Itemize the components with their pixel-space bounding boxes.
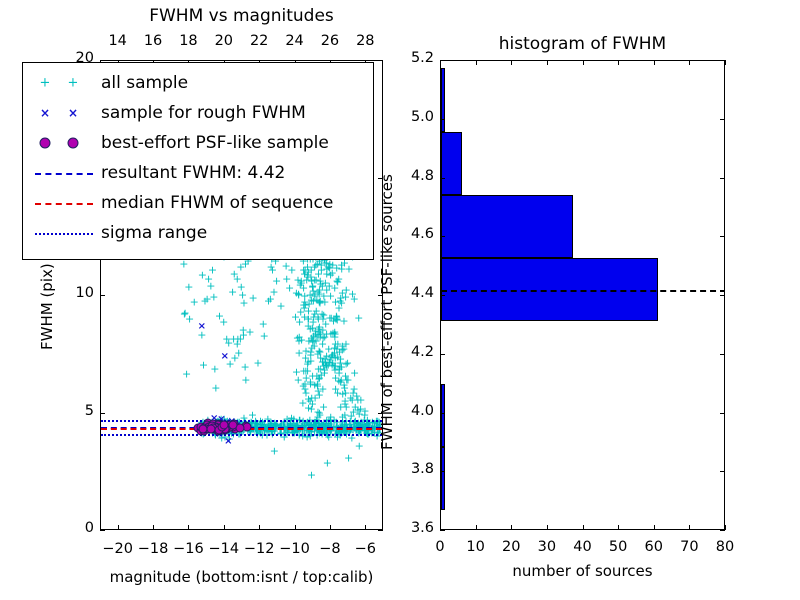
scatter-point-all-sample: +: [287, 264, 296, 275]
scatter-point-all-sample: +: [292, 366, 301, 377]
dashdot-line: [35, 233, 93, 235]
axis-tick: [725, 60, 726, 65]
scatter-point-all-sample: +: [295, 332, 304, 343]
axis-tick: [440, 413, 445, 414]
axis-tick: [153, 525, 154, 530]
axis-tick: [440, 60, 445, 61]
legend-item[interactable]: resultant FWHM: 4.42: [27, 158, 365, 188]
left-x-axis-label: magnitude (bottom:isnt / top:calib): [100, 568, 383, 586]
x-marker: ×: [40, 107, 50, 119]
scatter-point-all-sample: +: [323, 457, 332, 468]
legend-label: sigma range: [101, 223, 207, 243]
left-y-axis-label: FWHM (pix): [38, 263, 56, 350]
axis-tick: [440, 354, 445, 355]
legend-marker: ××: [27, 98, 101, 128]
scatter-point-psf-like: [198, 425, 207, 434]
scatter-point-all-sample: +: [336, 401, 345, 412]
scatter-point-all-sample: +: [190, 296, 199, 307]
scatter-point-all-sample: +: [307, 469, 316, 480]
left-xtick-top-label: 28: [343, 33, 387, 49]
scatter-point-rough-fwhm: ×: [224, 437, 232, 447]
sigma-range-lower-line: [101, 434, 382, 436]
scatter-point-rough-fwhm: ×: [221, 352, 229, 362]
right-ytick-label: 3.6: [388, 520, 434, 536]
histogram-axes[interactable]: [440, 60, 725, 530]
legend-item[interactable]: ++all sample: [27, 68, 365, 98]
left-xtick-label: −6: [343, 541, 387, 557]
axis-tick: [654, 525, 655, 530]
legend-box[interactable]: ++all sample××sample for rough FWHMbest-…: [22, 62, 374, 260]
right-ytick-label: 4.2: [388, 344, 434, 360]
scatter-point-all-sample: +: [317, 369, 326, 380]
histogram-bar: [441, 384, 445, 447]
scatter-point-all-sample: +: [270, 446, 279, 457]
legend-item[interactable]: ××sample for rough FWHM: [27, 98, 365, 128]
circle-marker: [68, 138, 79, 149]
axis-tick: [100, 413, 105, 414]
axis-tick: [689, 525, 690, 530]
axis-tick: [618, 525, 619, 530]
right-ytick-label: 4.8: [388, 168, 434, 184]
axis-tick: [378, 178, 383, 179]
scatter-point-all-sample: +: [249, 292, 258, 303]
legend-label: best-effort PSF-like sample: [101, 133, 329, 153]
scatter-point-all-sample: +: [272, 275, 281, 286]
right-xtick-label: 80: [703, 539, 747, 555]
scatter-point-all-sample: +: [355, 409, 364, 420]
scatter-point-all-sample: +: [240, 361, 249, 372]
axis-tick: [224, 525, 225, 530]
scatter-point-all-sample: +: [241, 374, 250, 385]
scatter-point-all-sample: +: [315, 407, 324, 418]
axis-tick: [188, 525, 189, 530]
circle-marker: [40, 138, 51, 149]
legend-label: resultant FWHM: 4.42: [101, 163, 285, 183]
right-ytick-label: 5.2: [388, 50, 434, 66]
scatter-point-all-sample: +: [304, 356, 313, 367]
scatter-point-all-sample: +: [182, 369, 191, 380]
axis-tick: [365, 525, 366, 530]
axis-tick: [547, 525, 548, 530]
scatter-point-all-sample: +: [234, 347, 243, 358]
scatter-point-all-sample: +: [307, 343, 316, 354]
axis-tick: [720, 295, 725, 296]
legend-marker: [27, 128, 101, 158]
legend-label: all sample: [101, 73, 188, 93]
axis-tick: [440, 236, 445, 237]
right-ytick-label: 5.0: [388, 109, 434, 125]
scatter-point-psf-like: [228, 421, 237, 430]
scatter-point-all-sample: +: [302, 373, 311, 384]
axis-tick: [440, 178, 445, 179]
scatter-point-all-sample: +: [350, 294, 359, 305]
axis-tick: [440, 295, 445, 296]
right-ytick-label: 3.8: [388, 461, 434, 477]
right-x-axis-label: number of sources: [440, 562, 725, 580]
legend-item[interactable]: median FHWM of sequence: [27, 188, 365, 218]
scatter-point-all-sample: +: [200, 296, 209, 307]
left-panel-title: FWHM vs magnitudes: [100, 6, 383, 26]
x-marker: ×: [68, 107, 78, 119]
scatter-point-all-sample: +: [322, 284, 331, 295]
legend-item[interactable]: best-effort PSF-like sample: [27, 128, 365, 158]
axis-tick: [440, 471, 445, 472]
scatter-point-all-sample: +: [210, 363, 219, 374]
axis-tick: [720, 354, 725, 355]
right-ytick-label: 4.6: [388, 226, 434, 242]
scatter-point-all-sample: +: [343, 374, 352, 385]
scatter-point-all-sample: +: [233, 274, 242, 285]
axis-tick: [725, 525, 726, 530]
axis-tick: [547, 60, 548, 65]
scatter-point-all-sample: +: [239, 298, 248, 309]
axis-tick: [720, 178, 725, 179]
scatter-point-all-sample: +: [199, 360, 208, 371]
scatter-point-all-sample: +: [333, 338, 342, 349]
axis-tick: [330, 525, 331, 530]
axis-tick: [440, 530, 445, 531]
scatter-point-all-sample: +: [355, 441, 364, 452]
axis-tick: [118, 525, 119, 530]
scatter-point-all-sample: +: [253, 357, 262, 368]
axis-tick: [511, 60, 512, 65]
axis-tick: [583, 525, 584, 530]
right-ytick-label: 4.4: [388, 285, 434, 301]
axis-tick: [378, 413, 383, 414]
plus-marker: +: [68, 77, 79, 90]
scatter-point-all-sample: +: [222, 334, 231, 345]
scatter-point-all-sample: +: [354, 312, 363, 323]
axis-tick: [720, 236, 725, 237]
axis-tick: [720, 413, 725, 414]
left-ytick-label: 0: [52, 520, 94, 536]
scatter-point-all-sample: +: [331, 372, 340, 383]
plus-marker: +: [40, 77, 51, 90]
scatter-point-all-sample: +: [211, 383, 220, 394]
axis-tick: [476, 525, 477, 530]
axis-tick: [720, 119, 725, 120]
axis-tick: [378, 295, 383, 296]
scatter-point-all-sample: +: [333, 352, 342, 363]
scatter-point-all-sample: +: [311, 326, 320, 337]
left-ytick-label: 10: [52, 285, 94, 301]
scatter-point-all-sample: +: [304, 394, 313, 405]
sigma-range-upper-line: [101, 420, 382, 422]
legend-label: median FHWM of sequence: [101, 193, 333, 213]
axis-tick: [259, 525, 260, 530]
legend-marker: [27, 218, 101, 248]
axis-tick: [654, 60, 655, 65]
axis-tick: [689, 60, 690, 65]
scatter-point-all-sample: +: [337, 298, 346, 309]
axis-tick: [100, 295, 105, 296]
scatter-point-all-sample: +: [185, 314, 194, 325]
scatter-point-all-sample: +: [236, 334, 245, 345]
scatter-point-all-sample: +: [318, 356, 327, 367]
scatter-point-all-sample: +: [269, 287, 278, 298]
dashed-line: [35, 203, 93, 205]
dashed-line: [35, 173, 93, 175]
axis-tick: [720, 60, 725, 61]
scatter-point-all-sample: +: [184, 281, 193, 292]
figure-canvas: FWHM vs magnitudes +++++++++++++++++++++…: [0, 0, 800, 600]
right-panel-title: histogram of FWHM: [440, 34, 725, 54]
axis-tick: [618, 60, 619, 65]
legend-marker: [27, 188, 101, 218]
resultant-fwhm-line: [441, 290, 724, 292]
axis-tick: [720, 471, 725, 472]
legend-item[interactable]: sigma range: [27, 218, 365, 248]
scatter-point-all-sample: +: [219, 316, 228, 327]
axis-tick: [511, 525, 512, 530]
legend-marker: [27, 158, 101, 188]
axis-tick: [295, 525, 296, 530]
axis-tick: [378, 60, 383, 61]
scatter-point-rough-fwhm: ×: [198, 322, 206, 332]
axis-tick: [720, 530, 725, 531]
scatter-point-all-sample: +: [260, 331, 269, 342]
left-ytick-label: 5: [52, 403, 94, 419]
scatter-point-all-sample: +: [304, 267, 313, 278]
histogram-bar: [441, 195, 573, 258]
scatter-point-psf-like: [220, 421, 229, 430]
axis-tick: [100, 60, 105, 61]
right-ytick-label: 4.0: [388, 403, 434, 419]
scatter-point-all-sample: +: [276, 301, 285, 312]
histogram-bar: [441, 132, 462, 195]
scatter-point-all-sample: +: [321, 318, 330, 329]
legend-marker: ++: [27, 68, 101, 98]
axis-tick: [476, 60, 477, 65]
scatter-point-all-sample: +: [309, 285, 318, 296]
axis-tick: [378, 530, 383, 531]
scatter-point-all-sample: +: [344, 453, 353, 464]
histogram-bar: [441, 447, 445, 510]
histogram-bar: [441, 68, 445, 131]
legend-label: sample for rough FWHM: [101, 103, 306, 123]
axis-tick: [100, 530, 105, 531]
scatter-point-all-sample: +: [312, 306, 321, 317]
histogram-plot-area: [441, 61, 724, 529]
axis-tick: [440, 119, 445, 120]
scatter-point-all-sample: +: [209, 291, 218, 302]
axis-tick: [583, 60, 584, 65]
scatter-point-all-sample: +: [204, 273, 213, 284]
scatter-point-all-sample: +: [259, 318, 268, 329]
